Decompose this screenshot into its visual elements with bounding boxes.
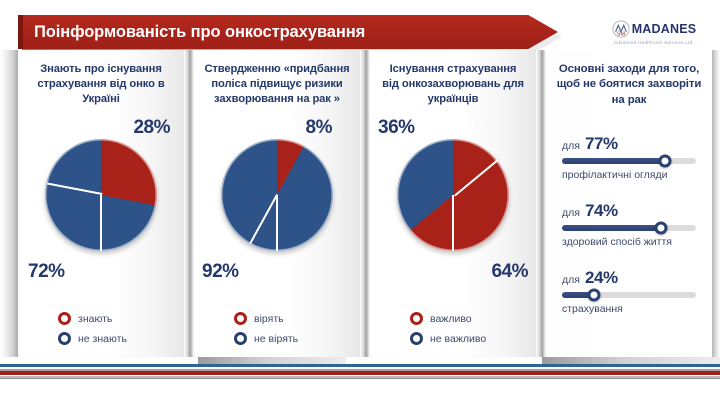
logo-subtitle: Advanced Healthcare Services Ltd. [598,40,710,45]
panel-divider [536,50,546,357]
pie-separator [100,195,102,251]
legend-item: не знають [58,332,144,345]
legend-marker-blue-icon [58,332,71,345]
legend-item: знають [58,312,144,325]
legend-marker-blue-icon [410,332,423,345]
panels-container: Знають про існування страхування від онк… [0,50,720,357]
madanes-emblem-icon: SM [612,20,630,38]
title-banner: Поінформованість про онкострахування [18,15,558,49]
pie-value-top: 28% [133,117,170,139]
pie-separator [47,183,102,195]
slider-track[interactable] [562,158,696,164]
footer-block [542,357,720,364]
panel-know-insurance: Знають про існування страхування від онк… [18,50,184,357]
header: Поінформованість про онкострахування SM … [0,0,720,56]
slider-fill [562,158,665,164]
legend-label: важливо [430,313,472,325]
banner-left-edge [18,15,23,49]
slider-value: 74% [585,201,618,221]
legend: знають не знають [18,312,184,345]
pie-separator [249,194,278,244]
pie-value-top: 36% [378,117,415,139]
stripe-gray-dark [0,378,720,379]
panel-title: Ствердженню «придбання поліса підвищує р… [194,50,360,107]
footer-stripes [0,357,720,403]
legend-marker-blue-icon [234,332,247,345]
legend-marker-red-icon [234,312,247,325]
right-edge-shade [712,50,720,357]
slider-label: страхування [562,303,696,315]
pie-graphic [397,139,509,251]
panel-importance: Існування страхування від онкозахворюван… [370,50,536,357]
slider-knob[interactable] [655,222,668,235]
slider-knob[interactable] [588,289,601,302]
left-edge-shade [0,50,18,357]
slider-prefix: для [562,207,580,219]
panel-policy-risk-belief: Ствердженню «придбання поліса підвищує р… [194,50,360,357]
legend-marker-red-icon [58,312,71,325]
svg-text:SM: SM [617,31,626,37]
legend: вірять не вірять [194,312,360,345]
pie-value-bottom: 64% [491,261,528,283]
measures-slider-list: для 77% профілактичні огляди для 74% [546,108,712,315]
pie-value-bottom: 72% [28,261,65,283]
pie-separator [452,195,454,251]
slider-prefix: для [562,274,580,286]
slider-insurance: для 24% страхування [562,268,696,315]
legend-label: не вірять [254,333,298,345]
slider-label: здоровий спосіб життя [562,236,696,248]
slider-prefix: для [562,140,580,152]
pie-graphic [221,139,333,251]
slider-fill [562,225,661,231]
pie-chart-belief: 8% 92% [194,111,360,291]
legend-item: не вірять [234,332,320,345]
brand-logo: SM MADANES Advanced Healthcare Services … [598,20,710,45]
pie-value-top: 8% [306,117,332,139]
pie-graphic [45,139,157,251]
slider-value: 24% [585,268,618,288]
slider-checkups: для 77% профілактичні огляди [562,134,696,181]
stripe-blue [0,364,720,367]
slider-label: профілактичні огляди [562,169,696,181]
legend-label: вірять [254,313,284,325]
pie-chart-importance: 36% 64% [370,111,536,291]
legend-item: вірять [234,312,320,325]
footer-block [198,357,346,364]
pie-value-bottom: 92% [202,261,239,283]
slider-track[interactable] [562,292,696,298]
panel-title: Основні заходи для того, щоб не боятися … [546,50,712,108]
slider-knob[interactable] [659,155,672,168]
panel-divider [184,50,194,357]
panel-title: Існування страхування від онкозахворюван… [370,50,536,107]
panel-divider [360,50,370,357]
legend-item: важливо [410,312,496,325]
page-title: Поінформованість про онкострахування [34,23,365,42]
pie-chart-know: 28% 72% [18,111,184,291]
infographic-root: Поінформованість про онкострахування SM … [0,0,720,403]
pie-separator [454,160,498,197]
slider-healthy-lifestyle: для 74% здоровий спосіб життя [562,201,696,248]
pie-separator [276,195,278,251]
legend-label: не важливо [430,333,486,345]
legend-label: знають [78,313,112,325]
panel-title: Знають про існування страхування від онк… [18,50,184,107]
logo-wordmark: MADANES [632,23,697,36]
legend: важливо не важливо [370,312,536,345]
panel-measures: Основні заходи для того, щоб не боятися … [546,50,712,357]
legend-label: не знають [78,333,127,345]
legend-marker-red-icon [410,312,423,325]
slider-track[interactable] [562,225,696,231]
legend-item: не важливо [410,332,496,345]
slider-value: 77% [585,134,618,154]
